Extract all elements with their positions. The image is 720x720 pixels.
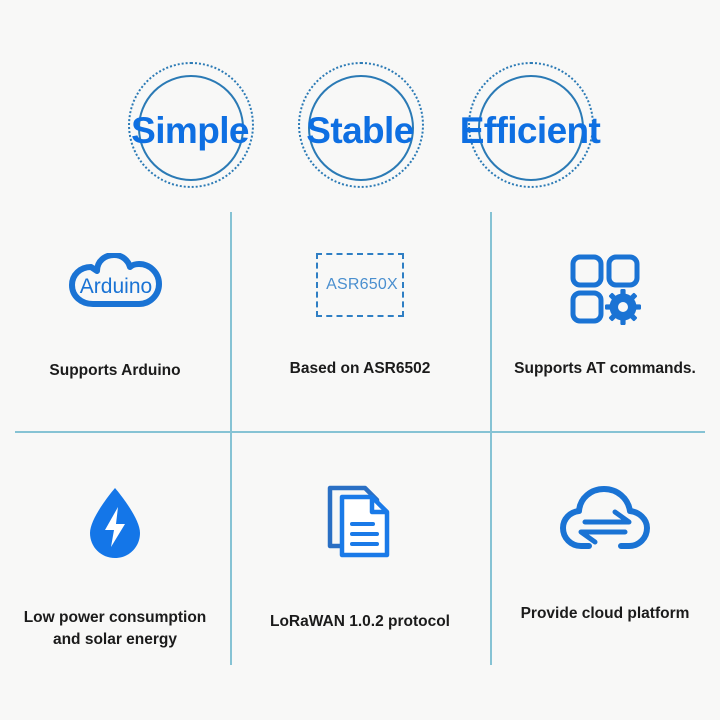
badge-row: Simple Stable Efficient [0, 57, 720, 205]
badge-label-simple: Simple [116, 57, 264, 205]
asr-dashed-box: ASR650X [316, 253, 404, 317]
arduino-logo-text: Arduino [80, 275, 152, 298]
feature-cell-lorawan: LoRaWAN 1.0.2 protocol [230, 431, 490, 672]
cloud-sync-arrows-icon [559, 431, 651, 581]
feature-grid: Arduino Supports Arduino ASR650X Based o… [0, 212, 720, 672]
badge-efficient: Efficient [456, 57, 604, 205]
feature-cell-cloud-platform: Provide cloud platform [490, 431, 720, 672]
infographic-page: Simple Stable Efficient Arduino Support [0, 0, 720, 720]
feature-cell-at-commands: Supports AT commands. [490, 212, 720, 431]
asr-chip-label: ASR650X [326, 276, 398, 294]
badge-label-stable: Stable [286, 57, 434, 205]
feature-cell-asr: ASR650X Based on ASR6502 [230, 212, 490, 431]
feature-caption-asr: Based on ASR6502 [280, 358, 441, 380]
asr650x-chip-icon: ASR650X [316, 212, 404, 346]
at-commands-grid-gear-icon [569, 212, 641, 350]
feature-caption-cloud-platform: Provide cloud platform [511, 603, 700, 625]
feature-caption-lorawan: LoRaWAN 1.0.2 protocol [260, 611, 460, 633]
feature-caption-arduino: Supports Arduino [39, 360, 190, 382]
feature-cell-low-power: Low power consumption and solar energy [0, 431, 230, 672]
water-drop-lightning-icon [84, 431, 146, 585]
arduino-cloud-logo-icon: Arduino [63, 212, 167, 350]
documents-stack-icon [325, 431, 395, 583]
badge-label-efficient: Efficient [456, 57, 604, 205]
badge-simple: Simple [116, 57, 264, 205]
feature-caption-at-commands: Supports AT commands. [504, 358, 706, 380]
feature-cell-arduino: Arduino Supports Arduino [0, 212, 230, 431]
feature-caption-low-power: Low power consumption and solar energy [0, 607, 230, 651]
badge-stable: Stable [286, 57, 434, 205]
